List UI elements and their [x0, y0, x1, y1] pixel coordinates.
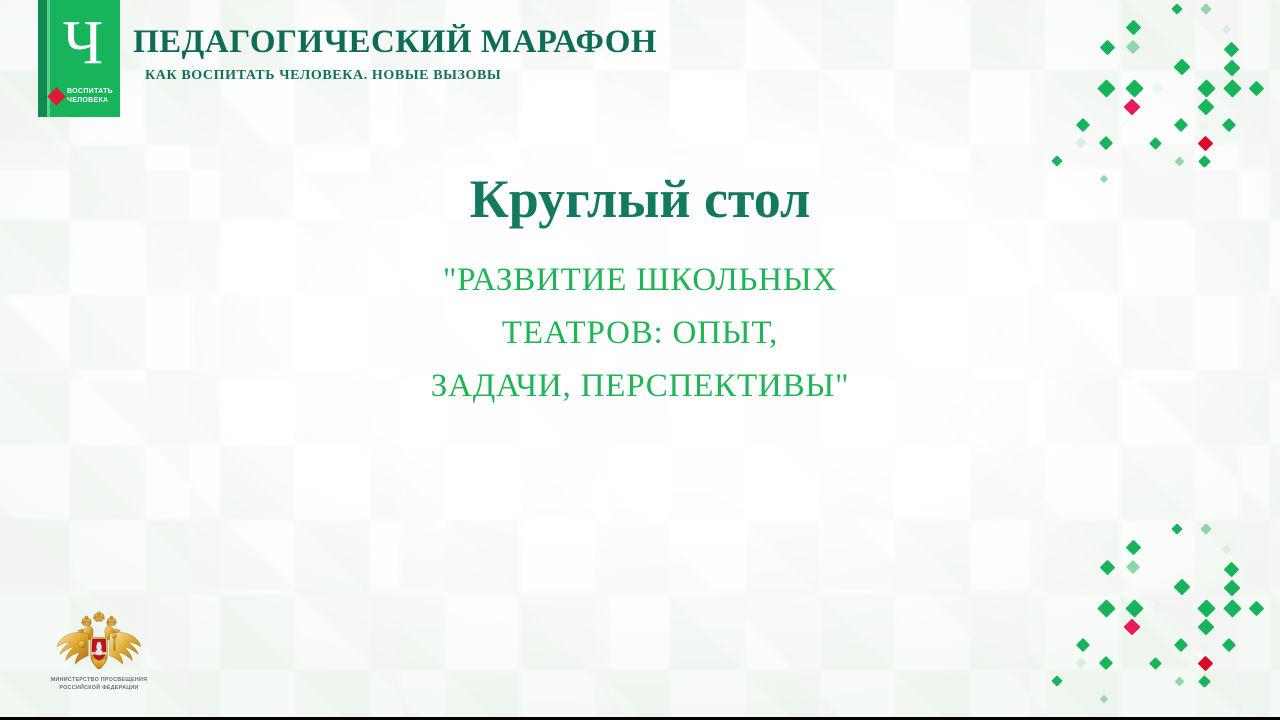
header-title: ПЕДАГОГИЧЕСКИЙ МАРАФОН	[133, 22, 773, 62]
page-subtitle: "РАЗВИТИЕ ШКОЛЬНЫХ ТЕАТРОВ: ОПЫТ, ЗАДАЧИ…	[0, 254, 1280, 413]
ministry-block: МИНИСТЕРСТВО ПРОСВЕЩЕНИЯ РОССИЙСКОЙ ФЕДЕ…	[24, 611, 174, 692]
logo-footer-text: ВОСПИТАТЬ ЧЕЛОВЕКА	[67, 87, 113, 105]
page-title: Круглый стол	[0, 168, 1280, 230]
presentation-slide: Ч ВОСПИТАТЬ ЧЕЛОВЕКА ПЕДАГОГИЧЕСКИЙ МАРА…	[0, 0, 1280, 720]
logo-footer: ВОСПИТАТЬ ЧЕЛОВЕКА	[50, 87, 116, 105]
main-content: Круглый стол "РАЗВИТИЕ ШКОЛЬНЫХ ТЕАТРОВ:…	[0, 168, 1280, 413]
header-subtitle: КАК ВОСПИТАТЬ ЧЕЛОВЕКА. НОВЫЕ ВЫЗОВЫ	[145, 68, 773, 84]
marathon-book-logo: Ч ВОСПИТАТЬ ЧЕЛОВЕКА	[38, 0, 120, 117]
header-text-block: ПЕДАГОГИЧЕСКИЙ МАРАФОН КАК ВОСПИТАТЬ ЧЕЛ…	[133, 22, 773, 84]
red-diamond-icon	[47, 87, 65, 105]
logo-letter-che: Ч	[50, 4, 116, 82]
russian-double-headed-eagle-emblem	[51, 611, 147, 673]
ministry-caption: МИНИСТЕРСТВО ПРОСВЕЩЕНИЯ РОССИЙСКОЙ ФЕДЕ…	[24, 677, 174, 692]
